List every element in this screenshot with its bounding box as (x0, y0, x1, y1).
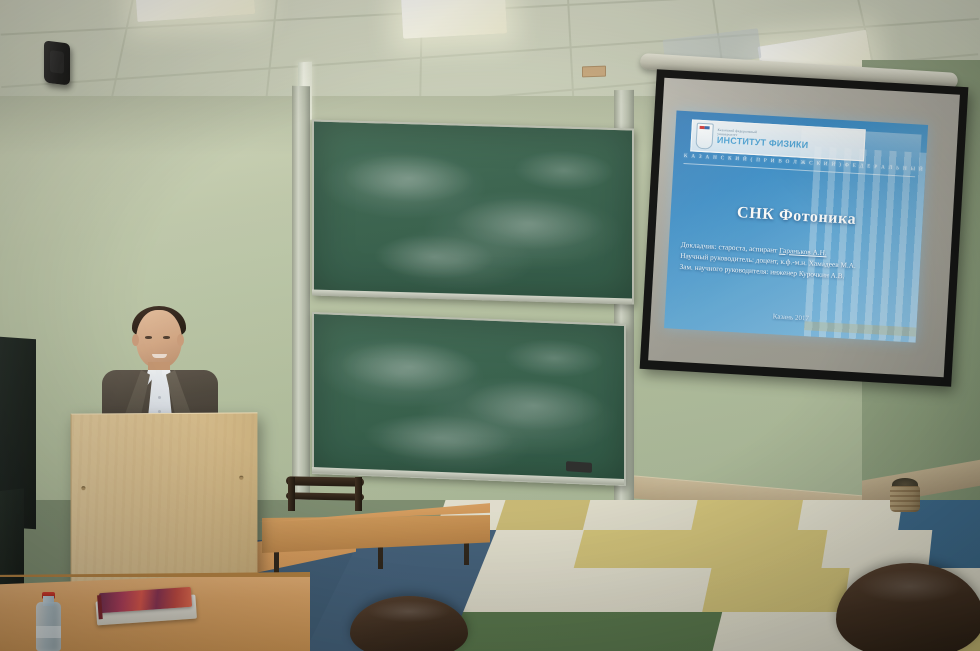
slide-logo-big-prefix: ИНСТИТУТ (717, 135, 767, 148)
chalkboard-lower (312, 312, 626, 486)
floor-tile (582, 500, 700, 534)
chalkboard-eraser-icon (566, 461, 592, 473)
wall-outlet-icon (582, 66, 606, 78)
podium-screw (81, 486, 85, 490)
audience-hair (836, 563, 980, 651)
water-bottle[interactable] (36, 592, 61, 651)
desk-apron (262, 515, 490, 553)
magazine[interactable] (95, 587, 197, 627)
ceiling-light-panel-2 (401, 0, 507, 39)
presenter-eye-left (145, 336, 152, 339)
floor-tile (690, 500, 807, 534)
basket-body (890, 486, 920, 512)
projection-screen: Казанский федеральный университет ИНСТИТ… (640, 69, 969, 386)
kfu-shield-icon (695, 123, 713, 150)
presenter-ear-right (177, 334, 184, 346)
bottle-label (36, 626, 61, 638)
presenter-mouth (152, 354, 167, 358)
student-desk[interactable] (258, 499, 490, 551)
floor-tile (547, 612, 734, 651)
audience-member-front-right (836, 563, 980, 651)
chalkboard-rail-left (292, 86, 310, 506)
audience-hair (350, 596, 468, 651)
wall-speaker-icon (44, 40, 70, 85)
chair-top-rail (286, 476, 364, 486)
projection-screen-surface: Казанский федеральный университет ИНСТИТ… (648, 78, 960, 378)
lecture-hall-photo: Казанский федеральный университет ИНСТИТ… (0, 0, 980, 651)
slide-logo-big-suffix: ФИЗИКИ (769, 138, 809, 150)
slide-logo-text: Казанский федеральный университет ИНСТИТ… (717, 129, 809, 150)
presenter-ear-left (132, 334, 139, 346)
audience-member-front-left (350, 596, 468, 651)
podium-screw (239, 476, 243, 480)
wicker-basket-planter (890, 478, 920, 512)
presentation-slide: Казанский федеральный университет ИНСТИТ… (664, 110, 928, 342)
presenter-eye-right (163, 336, 170, 339)
presenter-head (136, 310, 182, 368)
chalkboard-upper (312, 120, 634, 305)
shirt-button (158, 396, 161, 399)
